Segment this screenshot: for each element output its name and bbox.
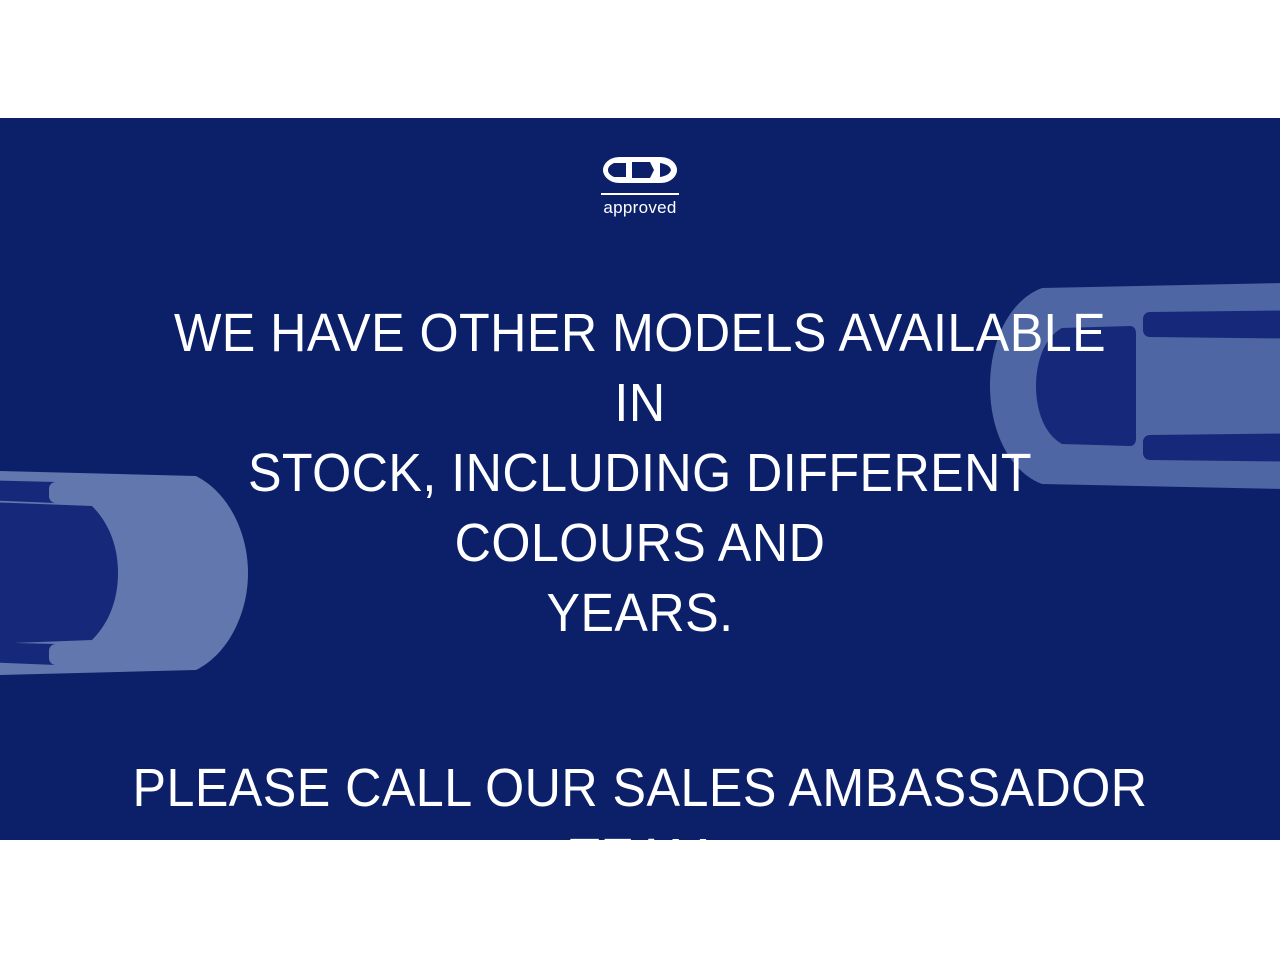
logo-wordmark: approved (0, 199, 1280, 218)
banner-page: approved WE HAVE OTHER MODELS AVAILABLE … (0, 0, 1280, 960)
letterbox-band-top (0, 0, 1280, 118)
headline-primary: WE HAVE OTHER MODELS AVAILABLE IN STOCK,… (147, 298, 1133, 648)
headline-2-line-1: PLEASE CALL OUR SALES AMBASSADOR TEAM (101, 753, 1180, 840)
message-copy: WE HAVE OTHER MODELS AVAILABLE IN STOCK,… (0, 298, 1280, 840)
approved-car-logo-icon (602, 154, 678, 186)
letterbox-band-bottom (0, 840, 1280, 960)
headline-line-1: WE HAVE OTHER MODELS AVAILABLE IN (147, 298, 1133, 438)
headline-line-3: YEARS. (147, 578, 1133, 648)
brand-logo: approved (0, 154, 1280, 218)
headline-secondary: PLEASE CALL OUR SALES AMBASSADOR TEAM FO… (101, 648, 1180, 840)
headline-line-2: STOCK, INCLUDING DIFFERENT COLOURS AND (147, 438, 1133, 578)
promo-banner: approved WE HAVE OTHER MODELS AVAILABLE … (0, 118, 1280, 840)
logo-divider-rule (601, 193, 679, 195)
